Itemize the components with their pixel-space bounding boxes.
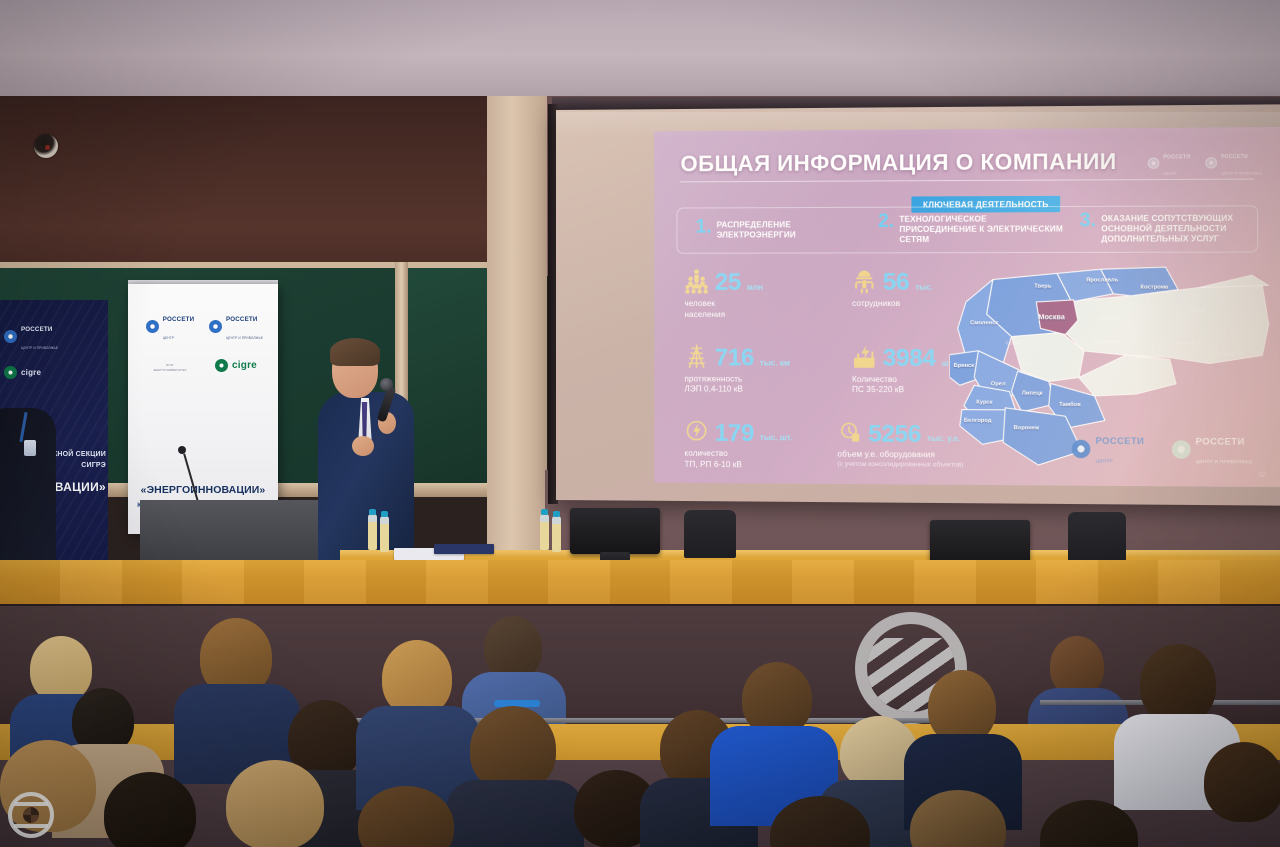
cigre-logo-icon: cigre <box>4 366 58 379</box>
rosseti-mark-icon <box>1171 440 1190 459</box>
company-statistics: 25 млн человек населения <box>684 267 990 487</box>
logo-name: cigre <box>21 369 41 377</box>
logo-sub: ЦЕНТР <box>163 336 174 340</box>
map-city-label: Тула <box>1018 361 1031 367</box>
map-city-label: Белгород <box>964 418 992 424</box>
stat-row: 716 тыс. км протяженность ЛЭП 0,4-110 кВ <box>684 343 990 397</box>
stat-label: количество ТП, РП 6-10 кВ <box>684 449 806 472</box>
map-city-label: Курск <box>976 400 992 406</box>
stat-value: 25 <box>715 272 741 294</box>
corner-watermark-icon <box>8 792 54 838</box>
rosseti-mark-icon <box>209 320 222 333</box>
stat-row: 25 млн человек населения <box>684 267 990 321</box>
key-activity-text: ТЕХНОЛОГИЧЕСКОЕ ПРИСОЕДИНЕНИЕ К ЭЛЕКТРИЧ… <box>899 214 1067 246</box>
igeu-logo-icon: ИГЭУ ЭНЕРГОУНИВЕРСИТЕТ <box>153 358 187 372</box>
slide-title: ОБЩАЯ ИНФОРМАЦИЯ О КОМПАНИИ <box>680 149 1116 178</box>
substation-icon <box>852 343 877 369</box>
stat-unit: тыс. шт. <box>760 433 792 442</box>
map-city-label: Киров <box>1189 308 1205 314</box>
rosseti-mark-icon <box>146 320 159 333</box>
map-city-label: Тамбов <box>1059 402 1081 408</box>
stat-label: человек населения <box>684 299 821 321</box>
slide-title-rule <box>680 179 1253 183</box>
logo-sub: ЦЕНТР И ПРИВОЛЖЬЕ <box>21 346 58 350</box>
stat-label: протяженность ЛЭП 0,4-110 кВ <box>684 374 821 396</box>
bolt-icon <box>684 418 708 444</box>
brand-sub: ЦЕНТР И ПРИВОЛЖЬЕ <box>1196 459 1253 464</box>
stat-value: 56 <box>883 272 909 294</box>
rosseti-cp-logo-icon: РОССЕТИ ЦЕНТР И ПРИВОЛЖЬЕ <box>209 308 263 344</box>
brand-name: РОССЕТИ <box>1096 436 1145 446</box>
map-city-label: Иваново <box>1101 316 1124 322</box>
water-bottle <box>540 514 549 550</box>
map-city-label: Липецк <box>1022 391 1043 397</box>
logo-sub: ЭНЕРГОУНИВЕРСИТЕТ <box>153 368 187 372</box>
water-bottle <box>552 516 561 552</box>
stage-top-surface <box>0 560 1280 608</box>
key-activity-number: 3. <box>1080 212 1097 230</box>
key-activity-text: ОКАЗАНИЕ СОПУТСТВУЮЩИХ ОСНОВНОЙ ДЕЯТЕЛЬН… <box>1101 213 1250 245</box>
pylon-icon <box>684 343 708 369</box>
logo-name: ИГЭУ <box>166 363 174 367</box>
cigre-logo-icon: cigre <box>215 358 257 372</box>
wall-pillar <box>487 96 547 566</box>
chair <box>1068 512 1126 564</box>
rollup-dark-logos: РОССЕТИ ЦЕНТР И ПРИВОЛЖЬЕ cigre <box>4 318 58 379</box>
map-city-label: Смоленск <box>970 320 998 326</box>
map-city-label: Марий Эл <box>1176 341 1203 347</box>
people-icon <box>684 268 708 294</box>
indicator-light-icon <box>45 145 50 150</box>
microphone-stand-head-icon <box>178 446 186 454</box>
rosseti-mark-icon <box>4 330 17 343</box>
logo-name: РОССЕТИ <box>1163 154 1190 160</box>
bottle-cap-icon <box>553 511 560 517</box>
rosseti-centr-logo-icon: РОССЕТИ ЦЕНТР <box>1148 146 1191 179</box>
rollup-white-title: «ЭНЕРГОИННОВАЦИИ» <box>128 484 278 496</box>
bottle-cap-icon <box>541 509 548 515</box>
projection-screen: ОБЩАЯ ИНФОРМАЦИЯ О КОМПАНИИ РОССЕТИ ЦЕНТ… <box>556 104 1280 506</box>
bottle-cap-icon <box>369 509 376 515</box>
stat-unit: тыс. <box>915 283 933 292</box>
cigre-mark-icon <box>215 359 228 372</box>
folder <box>434 544 494 554</box>
watermark-bar <box>14 802 48 806</box>
stat-value: 716 <box>715 347 754 369</box>
stat-unit: тыс. км <box>760 358 790 367</box>
map-city-label: Москва <box>1038 314 1064 321</box>
speaker-hand-left <box>352 436 374 456</box>
rosseti-mark-icon <box>1072 440 1091 458</box>
stat-unit: млн <box>747 283 763 292</box>
rosseti-centr-logo-icon: РОССЕТИ ЦЕНТР <box>146 308 195 344</box>
ceiling <box>0 0 1280 100</box>
brand-sub: ЦЕНТР <box>1096 458 1113 463</box>
stat-transformer-points: 179 тыс. шт. количество ТП, РП 6-10 кВ <box>684 418 806 472</box>
map-city-label: Орел <box>991 381 1006 387</box>
rosseti-mark-icon <box>1148 157 1160 168</box>
watermark-hub <box>23 807 39 823</box>
key-activity-number: 1. <box>696 218 712 235</box>
bottle-cap-icon <box>381 511 388 517</box>
stat-population: 25 млн человек населения <box>684 268 821 321</box>
cigre-mark-icon <box>4 366 17 379</box>
logo-name: РОССЕТИ <box>163 316 195 323</box>
watermark-bar <box>14 824 48 828</box>
logo-sub: ЦЕНТР И ПРИВОЛЖЬЕ <box>1221 171 1262 175</box>
equipment-icon <box>837 418 862 444</box>
stat-value: 179 <box>715 422 754 444</box>
map-city-label: Н. Новгород <box>1128 355 1161 361</box>
podium-desk <box>140 500 340 562</box>
rosseti-cp-logo-icon: РОССЕТИ ЦЕНТР И ПРИВОЛЖЬЕ <box>1205 146 1262 179</box>
lecture-hall-photo: ОБЩАЯ ИНФОРМАЦИЯ О КОМПАНИИ РОССЕТИ ЦЕНТ… <box>0 0 1280 847</box>
map-city-label: Калуга <box>1005 341 1023 347</box>
slide-header-logos: РОССЕТИ ЦЕНТР РОССЕТИ ЦЕНТР И ПРИВОЛЖЬЕ <box>1148 146 1263 179</box>
map-city-label: Тверь <box>1034 284 1051 290</box>
key-activity-3: 3. ОКАЗАНИЕ СОПУТСТВУЮЩИХ ОСНОВНОЙ ДЕЯТЕ… <box>1073 213 1257 245</box>
water-bottle <box>380 516 389 552</box>
key-activity-1: 1. РАСПРЕДЕЛЕНИЕ ЭЛЕКТРОЭНЕРГИИ <box>677 220 871 241</box>
key-activity-text: РАСПРЕДЕЛЕНИЕ ЭЛЕКТРОЭНЕРГИИ <box>717 220 866 241</box>
desk-monitor <box>570 508 660 554</box>
logo-name: РОССЕТИ <box>21 326 53 333</box>
service-region-map: Тверь Ярославль Кострома Смоленск Москва… <box>949 257 1272 475</box>
worker-icon <box>852 268 877 294</box>
slide-page-number: 02 <box>1258 472 1266 479</box>
speaker-hair <box>330 338 380 366</box>
rosseti-cp-brand-icon: РОССЕТИ ЦЕНТР И ПРИВОЛЖЬЕ <box>1171 431 1252 468</box>
chalkboard-right <box>408 268 492 483</box>
chair <box>684 510 736 558</box>
rosseti-logo-icon: РОССЕТИ ЦЕНТР И ПРИВОЛЖЬЕ <box>4 318 58 354</box>
map-brand-logos: РОССЕТИ ЦЕНТР РОССЕТИ ЦЕНТР И ПРИВОЛЖЬЕ <box>1072 431 1253 469</box>
badge <box>24 440 36 456</box>
rollup-dark-line2: СИГРЭ <box>81 462 106 469</box>
map-city-label: Владимир <box>1092 339 1120 345</box>
water-bottle <box>368 514 377 550</box>
key-activities-box: 1. РАСПРЕДЕЛЕНИЕ ЭЛЕКТРОЭНЕРГИИ 2. ТЕХНО… <box>676 205 1258 253</box>
brand-name: РОССЕТИ <box>1196 436 1245 447</box>
key-activity-2: 2. ТЕХНОЛОГИЧЕСКОЕ ПРИСОЕДИНЕНИЕ К ЭЛЕКТ… <box>872 214 1074 246</box>
map-city-label: Удмуртия <box>1218 351 1244 357</box>
presentation-slide: ОБЩАЯ ИНФОРМАЦИЯ О КОМПАНИИ РОССЕТИ ЦЕНТ… <box>654 127 1280 487</box>
stat-value: 3984 <box>883 348 936 370</box>
stat-value: 5256 <box>868 423 921 445</box>
map-city-label: Воронеж <box>1014 425 1040 431</box>
logo-sub: ЦЕНТР И ПРИВОЛЖЬЕ <box>226 336 263 340</box>
logo-sub: ЦЕНТР <box>1163 172 1176 176</box>
rollup-banner-white: РОССЕТИ ЦЕНТР РОССЕТИ ЦЕНТР И ПРИВОЛЖЬЕ … <box>128 284 278 534</box>
map-city-label: Ярославль <box>1086 277 1118 283</box>
logo-name: cigre <box>232 360 257 371</box>
map-city-label: Кострома <box>1140 285 1168 291</box>
key-activity-number: 2. <box>878 212 894 229</box>
logo-name: РОССЕТИ <box>226 316 258 323</box>
microphone-head-icon <box>380 378 393 391</box>
map-city-label: Брянск <box>954 363 975 369</box>
rollup-white-logos: РОССЕТИ ЦЕНТР РОССЕТИ ЦЕНТР И ПРИВОЛЖЬЕ … <box>128 308 278 372</box>
stat-line-length: 716 тыс. км протяженность ЛЭП 0,4-110 кВ <box>684 343 821 396</box>
stat-row: 179 тыс. шт. количество ТП, РП 6-10 кВ <box>684 418 990 473</box>
rosseti-mark-icon <box>1205 157 1217 168</box>
rosseti-centr-brand-icon: РОССЕТИ ЦЕНТР <box>1072 431 1145 468</box>
logo-name: РОССЕТИ <box>1221 154 1248 160</box>
